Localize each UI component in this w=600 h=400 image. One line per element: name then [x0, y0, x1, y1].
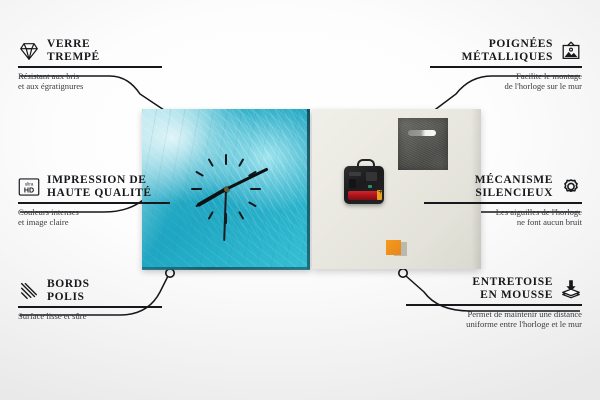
callout-subtitle: et image claire [18, 217, 188, 227]
callout-title: ENTRETOISE EN MOUSSE [472, 276, 553, 301]
callout-title: POIGNÉES MÉTALLIQUES [462, 38, 553, 63]
callout-title: IMPRESSION DE HAUTE QUALITÉ [47, 174, 152, 199]
diamond-icon [18, 40, 40, 62]
callout-header: POIGNÉES MÉTALLIQUES [412, 38, 582, 63]
callout-rule [18, 66, 162, 67]
clock-hour-hand [196, 187, 227, 207]
callout-subtitle: et aux égratignures [18, 81, 178, 91]
callout-poignees-metalliques: POIGNÉES MÉTALLIQUES Facilite le montage… [412, 38, 582, 91]
callout-title: MÉCANISME SILENCIEUX [475, 174, 553, 199]
infographic-canvas: VERRE TREMPÉ Résistant aux bris et aux é… [0, 0, 600, 400]
callout-subtitle: Résistant aux bris [18, 71, 178, 81]
callout-mecanisme-silencieux: MÉCANISME SILENCIEUX Les aiguilles de l'… [406, 174, 582, 227]
callout-subtitle: Surface lisse et sûre [18, 311, 178, 321]
battery [348, 191, 379, 200]
callout-header: MÉCANISME SILENCIEUX [406, 174, 582, 199]
hanger-slot [408, 130, 436, 136]
gear-icon [560, 176, 582, 198]
clock-center-cap [224, 187, 229, 192]
callout-rule [18, 306, 162, 307]
svg-text:HD: HD [24, 186, 34, 194]
foam-spacer-icon [560, 278, 582, 300]
callout-subtitle: Couleurs intenses [18, 207, 188, 217]
battery-positive-terminal [377, 190, 382, 200]
foam-spacer [386, 240, 401, 255]
callout-header: ultra HD IMPRESSION DE HAUTE QUALITÉ [18, 174, 188, 199]
callout-rule [406, 304, 582, 305]
mechanism-detail [349, 179, 356, 188]
callout-subtitle: uniforme entre l'horloge et le mur [390, 319, 582, 329]
metal-hanger-plate [398, 118, 448, 170]
callout-title: VERRE TREMPÉ [47, 38, 100, 63]
callout-header: VERRE TREMPÉ [18, 38, 178, 63]
mechanism-hanging-loop [357, 159, 375, 170]
callout-subtitle: Permet de maintenir une distance [390, 309, 582, 319]
ultra-hd-icon: ultra HD [18, 176, 40, 198]
callout-verre-trempe: VERRE TREMPÉ Résistant aux bris et aux é… [18, 38, 178, 91]
mechanism-indicator [368, 185, 372, 188]
polished-edges-icon [18, 280, 40, 302]
callout-header: ENTRETOISE EN MOUSSE [390, 276, 582, 301]
callout-bords-polis: BORDS POLIS Surface lisse et sûre [18, 278, 178, 321]
callout-subtitle: de l'horloge sur le mur [412, 81, 582, 91]
picture-hanger-icon [560, 40, 582, 62]
callout-impression-haute-qualite: ultra HD IMPRESSION DE HAUTE QUALITÉ Cou… [18, 174, 188, 227]
callout-header: BORDS POLIS [18, 278, 178, 303]
callout-rule [18, 202, 170, 203]
callout-subtitle: Facilite le montage [412, 71, 582, 81]
callout-entretoise-en-mousse: ENTRETOISE EN MOUSSE Permet de maintenir… [390, 276, 582, 329]
mechanism-detail [366, 172, 377, 181]
callout-title: BORDS POLIS [47, 278, 90, 303]
callout-rule [430, 66, 582, 67]
callout-rule [424, 202, 582, 203]
mechanism-detail [349, 172, 361, 176]
clock-mechanism [344, 166, 384, 204]
callout-subtitle: Les aiguilles de l'horloge [406, 207, 582, 217]
callout-subtitle: ne font aucun bruit [406, 217, 582, 227]
